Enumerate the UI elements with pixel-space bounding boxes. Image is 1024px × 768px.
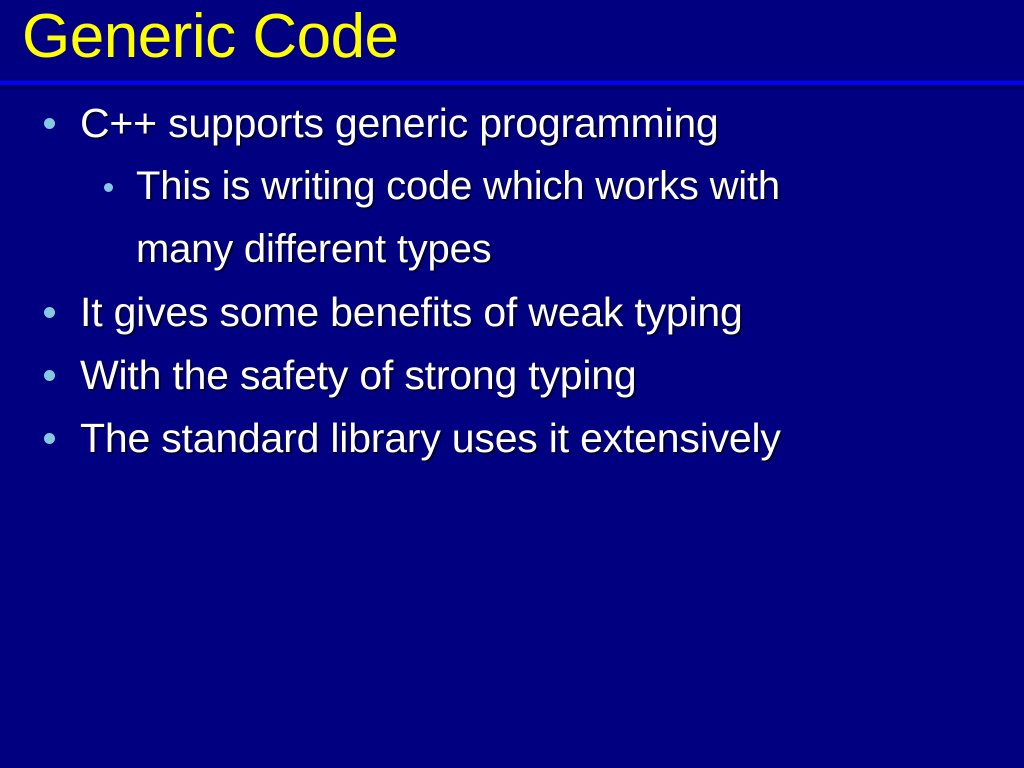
list-item: C++ supports generic programming: [0, 92, 1024, 155]
list-item-label: The standard library uses it extensively: [80, 407, 1024, 470]
bullet-dot-icon: [44, 433, 55, 444]
list-item-label: It gives some benefits of weak typing: [80, 281, 1024, 344]
list-item: The standard library uses it extensively: [0, 407, 1024, 470]
bullet-dot-icon: [104, 183, 113, 192]
presentation-slide: Generic Code C++ supports generic progra…: [0, 0, 1024, 768]
bullet-dot-icon: [44, 307, 55, 318]
slide-body: C++ supports generic programming This is…: [0, 92, 1024, 470]
page-title: Generic Code: [22, 0, 399, 78]
bullet-dot-icon: [44, 370, 55, 381]
bullet-dot-icon: [44, 118, 55, 129]
list-item-label: C++ supports generic programming: [80, 92, 1024, 155]
list-item-label: This is writing code which works with ma…: [136, 155, 826, 281]
list-item: It gives some benefits of weak typing: [0, 281, 1024, 344]
list-item-label: With the safety of strong typing: [80, 344, 1024, 407]
list-item: With the safety of strong typing: [0, 344, 1024, 407]
slide-title-area: Generic Code: [0, 0, 1024, 82]
list-item: This is writing code which works with ma…: [0, 155, 1024, 281]
title-divider-shadow: [0, 85, 1024, 89]
